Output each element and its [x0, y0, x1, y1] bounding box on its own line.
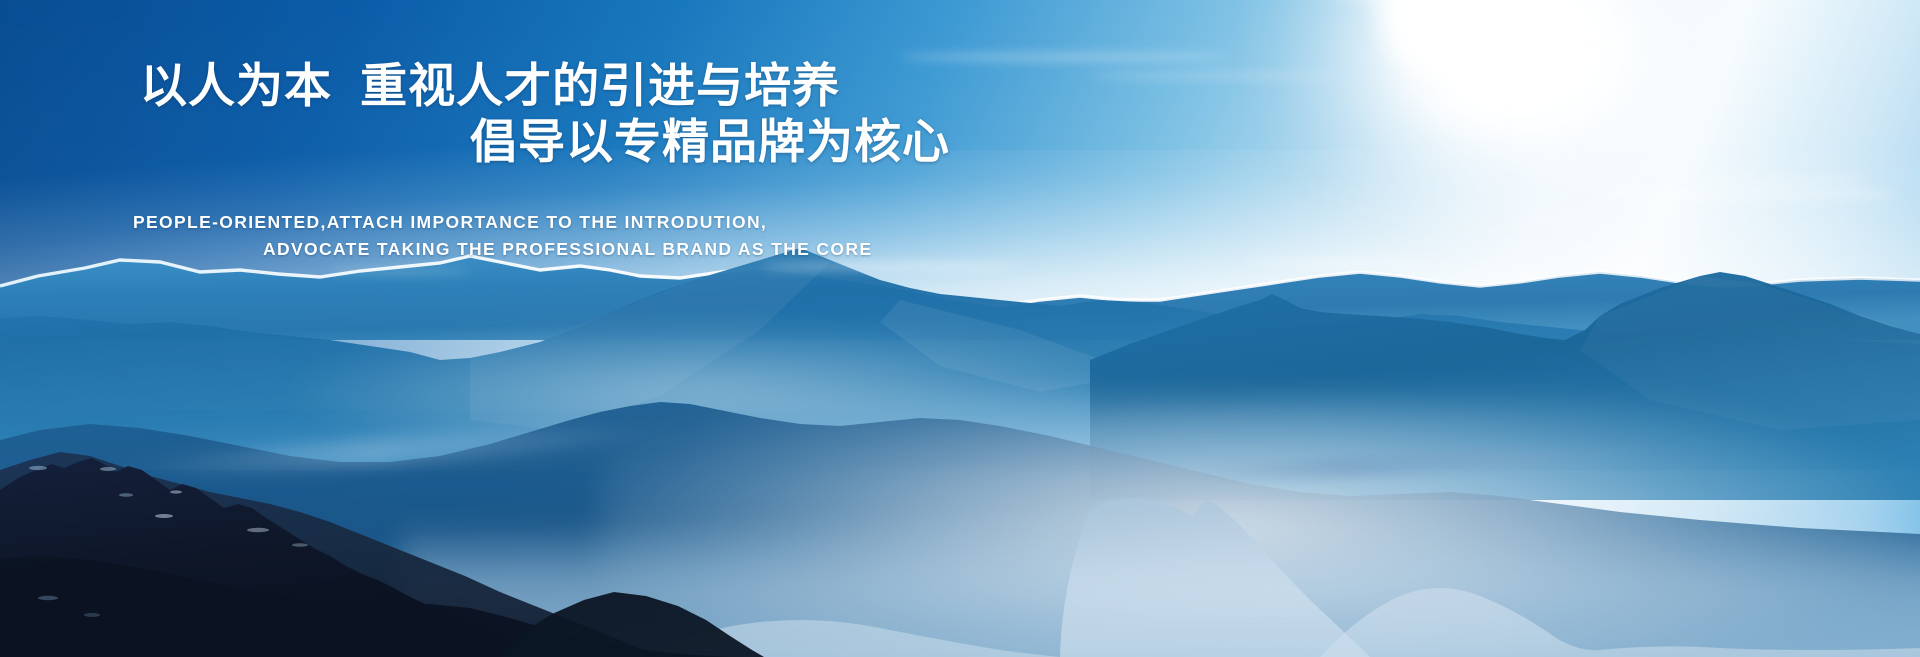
headline-en-line-1: PEOPLE-ORIENTED,ATTACH IMPORTANCE TO THE… — [133, 212, 767, 233]
headline-cn-line-2: 倡导以专精品牌为核心 — [470, 118, 950, 165]
headline-en-line-2: ADVOCATE TAKING THE PROFESSIONAL BRAND A… — [263, 239, 872, 260]
foreground-rock-spur — [500, 592, 764, 657]
hero-banner: 以人为本 重视人才的引进与培养 倡导以专精品牌为核心 PEOPLE-ORIENT… — [0, 0, 1920, 657]
headline-cn-line-1: 以人为本 重视人才的引进与培养 — [140, 62, 840, 109]
